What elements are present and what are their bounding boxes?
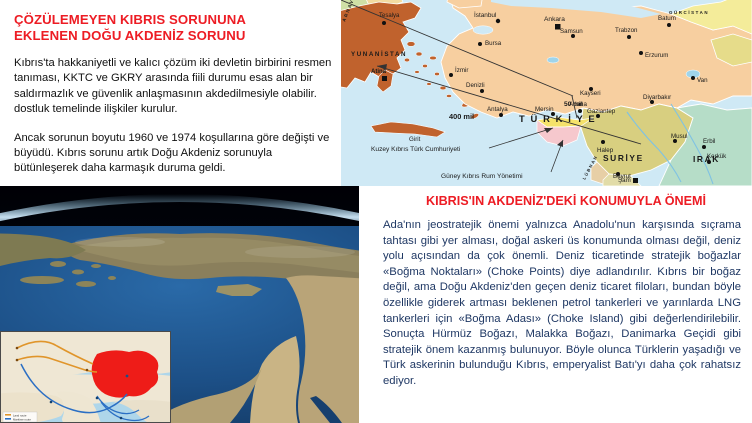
lake-tuz — [547, 57, 559, 63]
country-china-highlight — [92, 350, 159, 397]
city-label-kayseri: Kayseri — [580, 90, 601, 97]
city-label-trabzon: Trabzon — [615, 27, 638, 34]
route-node-colombo — [50, 401, 53, 404]
inset-svg: Land route Maritime route — [1, 332, 171, 423]
top-left-title-line-2: EKLENEN DOĞU AKDENİZ SORUNU — [14, 28, 334, 44]
city-label-musul: Musul — [671, 133, 688, 140]
city-label-bursa: Bursa — [485, 40, 502, 47]
route-node-moscow — [16, 347, 19, 350]
country-label-yunanistan: YUNANİSTAN — [351, 51, 407, 58]
country-label-turkiye: T Ü R K İ Y E — [519, 113, 596, 124]
city-label-erzurum: Erzurum — [645, 52, 668, 59]
city-label-beyrut: Beyrut — [613, 173, 631, 180]
bottom-right-title: KIBRIS'IN AKDENİZ'DEKİ KONUMUYLA ÖNEMİ — [383, 194, 749, 209]
annotation-kktc: Kuzey Kıbrıs Türk Cumhuriyeti — [371, 146, 461, 153]
route-node-urumqi — [86, 369, 89, 372]
city-label-gaziantep: Gaziantep — [587, 108, 616, 115]
top-left-paragraph-1: Kıbrıs'ta hakkaniyetli ve kalıcı çözüm i… — [14, 56, 336, 118]
city-label-antalya: Antalya — [487, 106, 508, 113]
annotation-400-mil: 400 mil — [449, 112, 474, 121]
city-label-izmir: İzmir — [455, 67, 468, 74]
route-node-venice — [16, 359, 19, 362]
city-label-mersin: Mersin — [535, 106, 554, 113]
top-left-title: ÇÖZÜLEMEYEN KIBRIS SORUNUNA EKLENEN DOĞU… — [14, 12, 334, 43]
cloud-haze-2 — [245, 246, 355, 258]
legend-label-maritime: Maritime route — [13, 418, 31, 422]
bottom-right-body: Ada'nın jeostratejik önemi yalnızca Anad… — [383, 218, 741, 390]
top-left-body: Kıbrıs'ta hakkaniyetli ve kalıcı çözüm i… — [14, 56, 336, 190]
city-label-denizli: Denizli — [466, 82, 485, 89]
top-left-title-line-1: ÇÖZÜLEMEYEN KIBRIS SORUNUNA — [14, 12, 334, 28]
inset-legend: Land route Maritime route — [3, 412, 37, 422]
city-label-istanbul: İstanbul — [474, 10, 496, 19]
annotation-50-mil: 50 mil — [564, 101, 583, 108]
beijing-marker — [126, 375, 129, 378]
city-label-diyarbakir: Diyarbakır — [643, 94, 671, 101]
city-label-atina: Atina — [371, 69, 387, 75]
map-svg: YUNANİSTAN ARNAVUTLUK T Ü R K İ Y E SURİ… — [341, 0, 752, 186]
country-label-suriye: SURİYE — [603, 153, 644, 163]
city-label-batum: Batum — [658, 15, 676, 22]
sea-marmara — [473, 26, 493, 34]
bottom-right-text-panel: KIBRIS'IN AKDENİZ'DEKİ KONUMUYLA ÖNEMİ A… — [359, 186, 752, 423]
satellite-earth-image: Land route Maritime route — [0, 186, 359, 423]
city-label-halep: Halep — [597, 147, 614, 154]
top-left-paragraph-2: Ancak sorunun boyutu 1960 ve 1974 koşull… — [14, 131, 336, 177]
annotation-gkry: Güney Kıbrıs Rum Yönetimi — [441, 173, 523, 180]
presentation-slide: ÇÖZÜLEMEYEN KIBRIS SORUNUNA EKLENEN DOĞU… — [0, 0, 752, 423]
city-label-van: Van — [697, 77, 708, 84]
city-label-girit: Girit — [409, 136, 421, 143]
bottom-right-paragraph: Ada'nın jeostratejik önemi yalnızca Anad… — [383, 218, 741, 390]
city-label-ankara: Ankara — [544, 16, 565, 23]
city-label-samsun: Samsun — [560, 28, 583, 35]
route-node-jakarta — [120, 417, 123, 420]
eastern-mediterranean-map: YUNANİSTAN ARNAVUTLUK T Ü R K İ Y E SURİ… — [341, 0, 752, 186]
top-left-text-panel: ÇÖZÜLEMEYEN KIBRIS SORUNUNA EKLENEN DOĞU… — [0, 0, 341, 186]
cloud-haze-1 — [75, 237, 165, 247]
city-label-tesalya: Tesalya — [379, 13, 400, 19]
city-label-kerkuk: Kerkük — [707, 153, 727, 160]
city-label-erbil: Erbil — [703, 138, 715, 145]
route-node-kolkata — [96, 397, 99, 400]
belt-and-road-inset-map: Land route Maritime route — [0, 331, 171, 423]
